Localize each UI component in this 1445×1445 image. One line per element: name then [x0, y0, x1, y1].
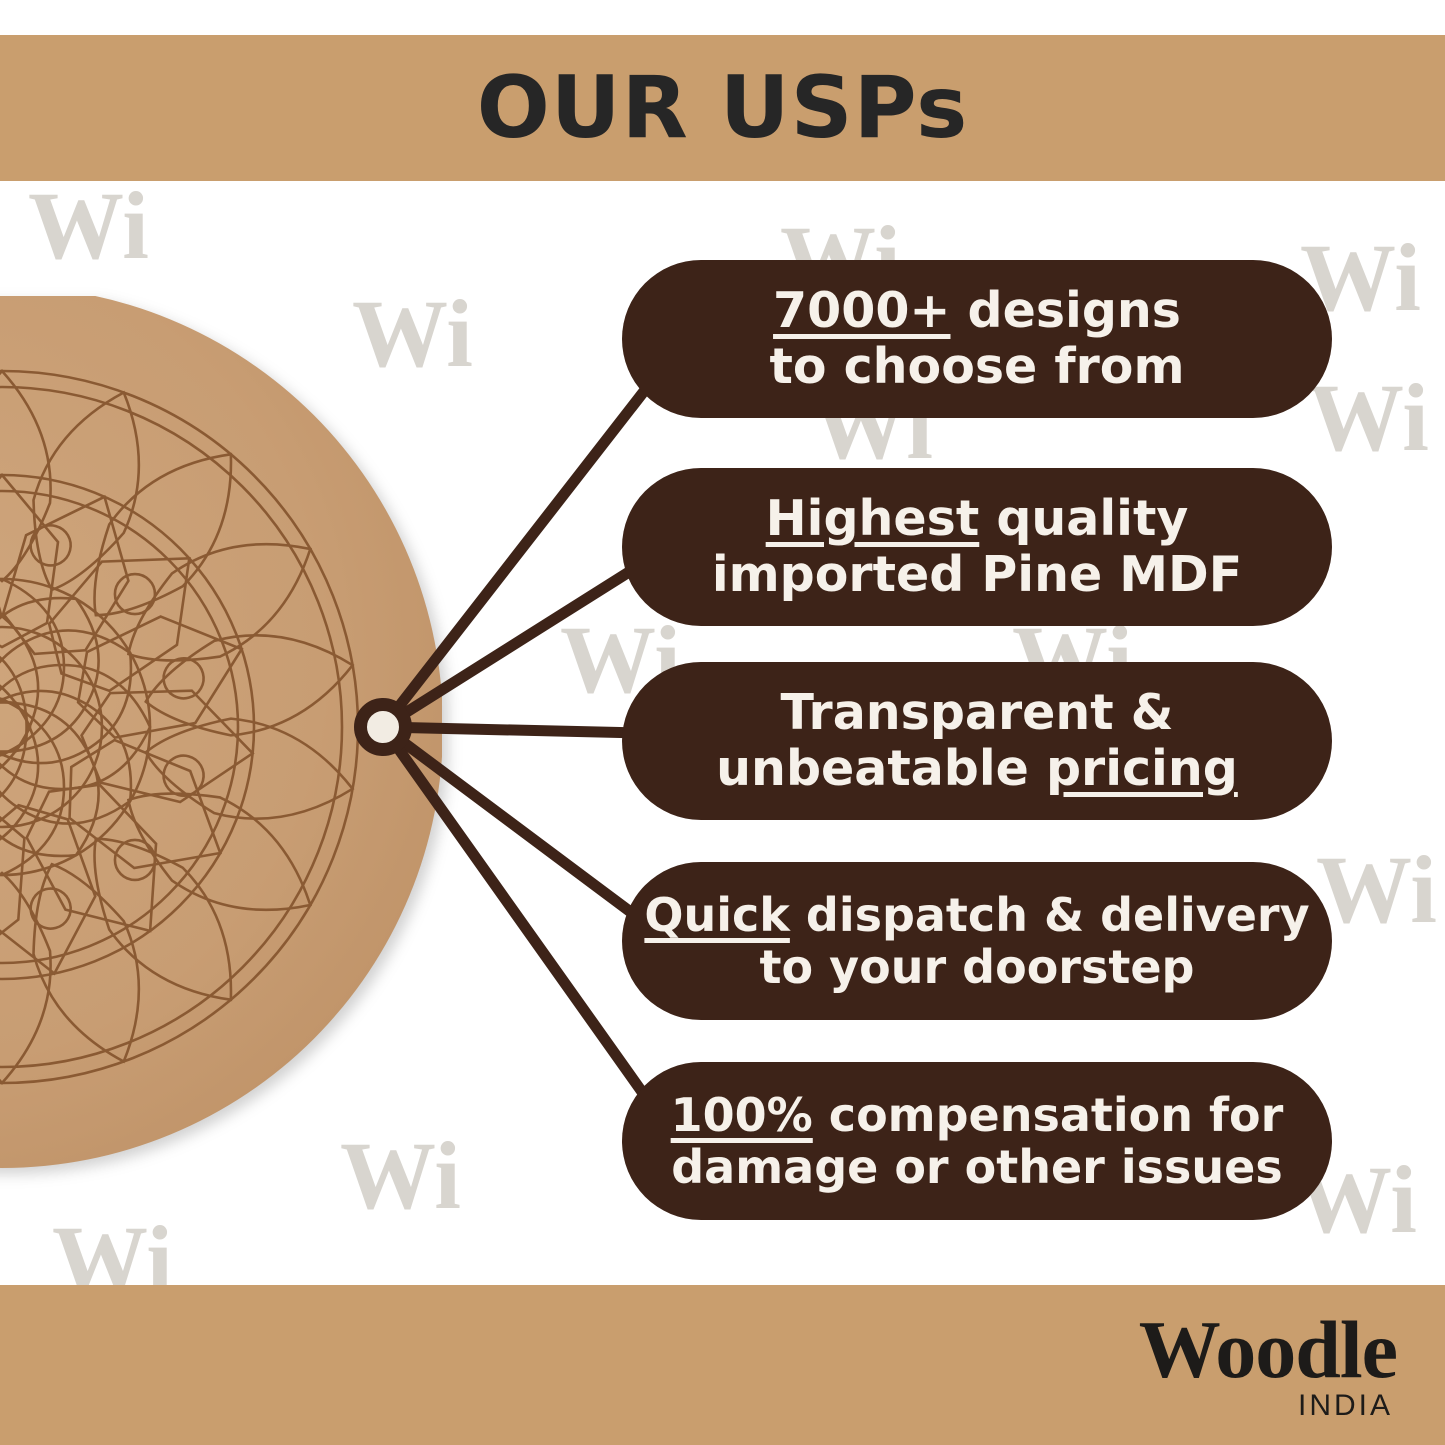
connector-line-compensation [383, 727, 662, 1120]
usp-line1-rest-dispatch: dispatch & delivery [790, 888, 1310, 942]
usp-text-quality: Highest quality imported Pine MDF [712, 491, 1242, 603]
usp-line2-quality: imported Pine MDF [712, 547, 1242, 603]
usp-pill-designs[interactable]: 7000+ designs to choose from [622, 260, 1332, 418]
usp-highlight-quality: Highest [766, 490, 980, 547]
usp-line1-rest-compensation: compensation for [813, 1088, 1284, 1142]
usp-line1-pricing: Transparent & [716, 685, 1238, 741]
brand-logo-word: Woodle [1139, 1312, 1397, 1387]
usp-highlight-pricing: pricing [1046, 740, 1238, 797]
connector-line-pricing [383, 727, 640, 733]
connector-line-quality [383, 560, 648, 727]
usp-text-pricing: Transparent & unbeatable pricing [716, 685, 1238, 797]
hub-node [354, 698, 412, 756]
usp-highlight-compensation: 100% [671, 1088, 813, 1142]
usp-pill-pricing[interactable]: Transparent & unbeatable pricing [622, 662, 1332, 820]
connector-line-dispatch [383, 727, 648, 925]
usp-text-dispatch: Quick dispatch & delivery to your doorst… [644, 889, 1309, 994]
usp-text-compensation: 100% compensation for damage or other is… [671, 1089, 1284, 1194]
usp-line2-pre-pricing: unbeatable [716, 740, 1046, 797]
usp-pill-compensation[interactable]: 100% compensation for damage or other is… [622, 1062, 1332, 1220]
usp-highlight-designs: 7000+ [773, 282, 950, 339]
usp-line1-rest-designs: designs [950, 282, 1180, 339]
infographic-canvas: Wi Wi Wi Wi Wi Wi Wi Wi Wi Wi Wi Wi OUR … [0, 0, 1445, 1445]
brand-logo: Woodle INDIA [1139, 1312, 1397, 1423]
usp-highlight-dispatch: Quick [644, 888, 789, 942]
usp-line2-dispatch: to your doorstep [644, 941, 1309, 993]
page-title: OUR USPs [0, 35, 1445, 181]
usp-text-designs: 7000+ designs to choose from [769, 283, 1184, 395]
usp-line2-designs: to choose from [769, 339, 1184, 395]
usp-pill-quality[interactable]: Highest quality imported Pine MDF [622, 468, 1332, 626]
usp-pill-dispatch[interactable]: Quick dispatch & delivery to your doorst… [622, 862, 1332, 1020]
usp-line1-rest-quality: quality [979, 490, 1188, 547]
usp-line2-compensation: damage or other issues [671, 1141, 1284, 1193]
